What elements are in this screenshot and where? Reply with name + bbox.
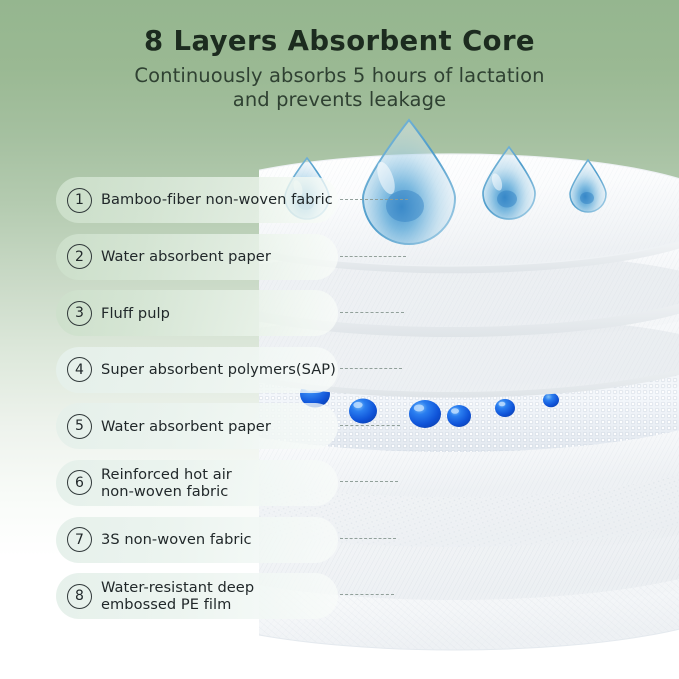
- layer-number-badge: 6: [67, 470, 92, 495]
- layer-label: Water absorbent paper: [101, 248, 271, 265]
- layer-item-7[interactable]: 7 3S non-woven fabric: [56, 517, 338, 563]
- layer-label: Super absorbent polymers(SAP): [101, 361, 336, 378]
- layer-number-badge: 8: [67, 584, 92, 609]
- layer-item-2[interactable]: 2 Water absorbent paper: [56, 234, 338, 280]
- leader-line-5: [340, 425, 400, 426]
- layer-label: Water absorbent paper: [101, 418, 271, 435]
- layer-number-badge: 5: [67, 414, 92, 439]
- layer-label: Fluff pulp: [101, 305, 170, 322]
- layer-number-badge: 7: [67, 527, 92, 552]
- layer-label: 3S non-woven fabric: [101, 531, 252, 548]
- subtitle-line-2: and prevents leakage: [0, 88, 679, 112]
- layer-item-6[interactable]: 6 Reinforced hot air non-woven fabric: [56, 460, 338, 506]
- layer-label: Reinforced hot air non-woven fabric: [101, 466, 232, 500]
- leader-line-6: [340, 481, 398, 482]
- water-droplet-tiny-right: [570, 160, 606, 212]
- page-title: 8 Layers Absorbent Core: [0, 26, 679, 57]
- leader-line-8: [340, 594, 394, 595]
- infographic-root: 8 Layers Absorbent Core Continuously abs…: [0, 0, 679, 679]
- layer-item-3[interactable]: 3 Fluff pulp: [56, 290, 338, 336]
- layer-number-badge: 1: [67, 188, 92, 213]
- layer-number-badge: 4: [67, 357, 92, 382]
- layer-number-badge: 3: [67, 301, 92, 326]
- leader-line-2: [340, 256, 406, 257]
- water-droplet-large: [363, 120, 455, 244]
- leader-line-3: [340, 312, 404, 313]
- layer-label: Bamboo-fiber non-woven fabric: [101, 191, 333, 208]
- layer-label: Water-resistant deep embossed PE film: [101, 579, 254, 613]
- leader-line-7: [340, 538, 396, 539]
- water-droplet-medium: [483, 147, 535, 219]
- layer-list: 1 Bamboo-fiber non-woven fabric 2 Water …: [56, 177, 346, 630]
- header: 8 Layers Absorbent Core Continuously abs…: [0, 0, 679, 112]
- leader-line-4: [340, 368, 402, 369]
- layer-item-1[interactable]: 1 Bamboo-fiber non-woven fabric: [56, 177, 338, 223]
- layer-item-4[interactable]: 4 Super absorbent polymers(SAP): [56, 347, 338, 393]
- layer-number-badge: 2: [67, 244, 92, 269]
- layer-item-8[interactable]: 8 Water-resistant deep embossed PE film: [56, 573, 338, 619]
- layer-item-5[interactable]: 5 Water absorbent paper: [56, 403, 338, 449]
- page-subtitle: Continuously absorbs 5 hours of lactatio…: [0, 64, 679, 112]
- subtitle-line-1: Continuously absorbs 5 hours of lactatio…: [0, 64, 679, 88]
- leader-line-1: [340, 199, 408, 200]
